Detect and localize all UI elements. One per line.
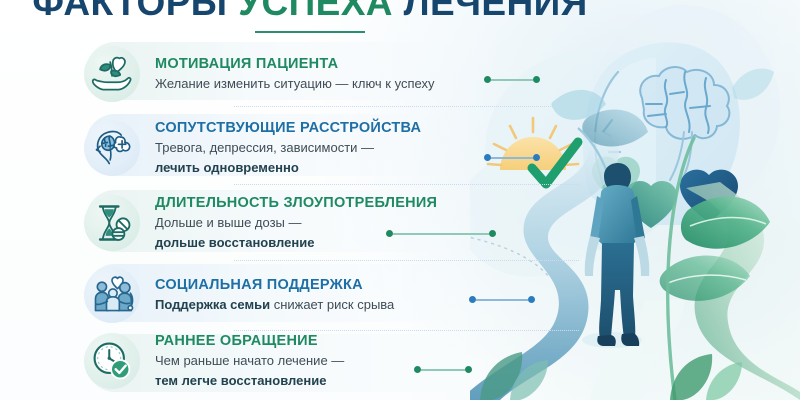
factor-heading: СОПУТСТВУЮЩИЕ РАССТРОЙСТВА [155,120,421,137]
connector-dot [528,296,535,303]
factor-subtitle: Желание изменить ситуацию — ключ к успех… [155,75,434,92]
connector-dot [533,76,540,83]
title-underline [255,31,365,33]
connector-dot [386,230,393,237]
factor-item-early-treatment[interactable]: РАННЕЕ ОБРАЩЕНИЕ Чем раньше начато лечен… [84,330,514,392]
connector-dot [484,76,491,83]
connector-dot [489,230,496,237]
page-title: ФАКТОРЫ УСПЕХА ЛЕЧЕНИЯ [0,0,620,33]
factor-heading: МОТИВАЦИЯ ПАЦИЕНТА [155,56,434,73]
factor-item-social-support[interactable]: СОЦИАЛЬНАЯ ПОДДЕРЖКА Поддержка семьи сни… [84,260,514,330]
connector-green-3 [414,366,472,373]
connector-line [421,369,465,371]
factor-text: ДЛИТЕЛЬНОСТЬ ЗЛОУПОТРЕБЛЕНИЯ Дольше и вы… [155,195,437,252]
connector-line [491,79,533,81]
factor-item-comorbidity[interactable]: СОПУТСТВУЮЩИЕ РАССТРОЙСТВА Тревога, депр… [84,110,514,186]
factor-subtitle-line1: Желание изменить ситуацию — ключ к успех… [155,76,434,91]
factor-heading: ДЛИТЕЛЬНОСТЬ ЗЛОУПОТРЕБЛЕНИЯ [155,195,437,212]
factor-subtitle-line1: Дольше и выше дозы — [155,214,437,231]
connector-dot [533,154,540,161]
connector-line [393,233,489,235]
factor-text: МОТИВАЦИЯ ПАЦИЕНТА Желание изменить ситу… [155,56,434,93]
connector-blue-2 [469,296,535,303]
factor-item-duration[interactable]: ДЛИТЕЛЬНОСТЬ ЗЛОУПОТРЕБЛЕНИЯ Дольше и вы… [84,186,514,260]
connector-line [476,299,528,301]
title-part-1: ФАКТОРЫ [32,0,227,23]
connector-dot [484,154,491,161]
hand-heart-plant-icon [84,46,140,102]
connector-blue-1 [484,154,540,161]
title-part-3: ЛЕЧЕНИЯ [404,0,588,23]
factor-item-motivation[interactable]: МОТИВАЦИЯ ПАЦИЕНТА Желание изменить ситу… [84,38,514,110]
connector-dot [465,366,472,373]
factor-heading: СОЦИАЛЬНАЯ ПОДДЕРЖКА [155,277,394,294]
factor-text: СОПУТСТВУЮЩИЕ РАССТРОЙСТВА Тревога, депр… [155,120,421,177]
factor-subtitle-line2: лечить одновременно [155,159,421,176]
divider-4 [234,330,579,331]
connector-dot [414,366,421,373]
divider-1 [234,106,579,107]
connector-dot [469,296,476,303]
connector-green-2 [386,230,496,237]
factor-subtitle-bold: Поддержка семьи [155,297,270,312]
clock-check-icon [84,333,140,389]
family-heart-icon [84,267,140,323]
divider-2 [234,184,579,185]
connector-green-1 [484,76,540,83]
illustration-panel [470,0,800,400]
factor-subtitle: Поддержка семьи снижает риск срыва [155,296,394,313]
factor-subtitle-line2: тем легче восстановление [155,372,344,389]
factor-subtitle-plain: снижает риск срыва [270,297,394,312]
factor-text: РАННЕЕ ОБРАЩЕНИЕ Чем раньше начато лечен… [155,333,344,390]
factor-subtitle-line1: Тревога, депрессия, зависимости — [155,139,421,156]
head-brain-plus-icon [84,120,140,176]
hourglass-pill-icon [84,195,140,251]
divider-3 [234,260,579,261]
factor-text: СОЦИАЛЬНАЯ ПОДДЕРЖКА Поддержка семьи сни… [155,277,394,314]
factor-subtitle-line1: Чем раньше начато лечение — [155,352,344,369]
factors-list: МОТИВАЦИЯ ПАЦИЕНТА Желание изменить ситу… [84,38,514,392]
connector-line [491,157,533,159]
factor-heading: РАННЕЕ ОБРАЩЕНИЕ [155,333,344,350]
title-part-2: УСПЕХА [238,0,393,23]
